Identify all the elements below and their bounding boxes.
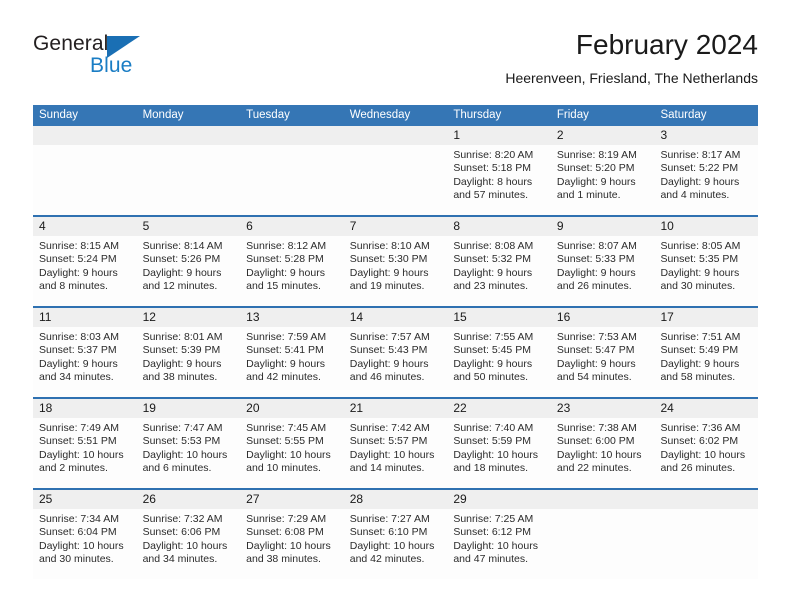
day-cell[interactable]: Sunrise: 8:01 AMSunset: 5:39 PMDaylight:… bbox=[137, 327, 241, 397]
sunrise-text: Sunrise: 8:12 AM bbox=[246, 240, 338, 253]
sunrise-text: Sunrise: 7:36 AM bbox=[660, 422, 752, 435]
sunrise-text: Sunrise: 8:20 AM bbox=[453, 149, 545, 162]
daylight-text-line2: and 19 minutes. bbox=[350, 280, 442, 293]
calendar-week-row: 45678910Sunrise: 8:15 AMSunset: 5:24 PMD… bbox=[33, 215, 758, 306]
sunset-text: Sunset: 5:33 PM bbox=[557, 253, 649, 266]
daylight-text-line2: and 15 minutes. bbox=[246, 280, 338, 293]
day-cell bbox=[33, 145, 137, 215]
daylight-text-line1: Daylight: 10 hours bbox=[453, 449, 545, 462]
sunset-text: Sunset: 6:02 PM bbox=[660, 435, 752, 448]
logo-text-blue: Blue bbox=[90, 54, 132, 78]
daylight-text-line1: Daylight: 9 hours bbox=[453, 267, 545, 280]
day-cell[interactable]: Sunrise: 8:08 AMSunset: 5:32 PMDaylight:… bbox=[447, 236, 551, 306]
sunset-text: Sunset: 5:53 PM bbox=[143, 435, 235, 448]
sunrise-text: Sunrise: 8:19 AM bbox=[557, 149, 649, 162]
daylight-text-line1: Daylight: 9 hours bbox=[350, 358, 442, 371]
sunset-text: Sunset: 5:26 PM bbox=[143, 253, 235, 266]
sunrise-text: Sunrise: 8:17 AM bbox=[660, 149, 752, 162]
day-cell bbox=[137, 145, 241, 215]
sunrise-text: Sunrise: 7:59 AM bbox=[246, 331, 338, 344]
day-cell[interactable]: Sunrise: 7:29 AMSunset: 6:08 PMDaylight:… bbox=[240, 509, 344, 579]
daylight-text-line2: and 26 minutes. bbox=[660, 462, 752, 475]
daylight-text-line2: and 57 minutes. bbox=[453, 189, 545, 202]
sunset-text: Sunset: 6:00 PM bbox=[557, 435, 649, 448]
day-cell[interactable]: Sunrise: 8:12 AMSunset: 5:28 PMDaylight:… bbox=[240, 236, 344, 306]
calendar-weeks: 123Sunrise: 8:20 AMSunset: 5:18 PMDaylig… bbox=[33, 126, 758, 579]
calendar-week-row: 11121314151617Sunrise: 8:03 AMSunset: 5:… bbox=[33, 306, 758, 397]
day-cell[interactable]: Sunrise: 7:53 AMSunset: 5:47 PMDaylight:… bbox=[551, 327, 655, 397]
daylight-text-line2: and 4 minutes. bbox=[660, 189, 752, 202]
calendar-week-row: 2526272829Sunrise: 7:34 AMSunset: 6:04 P… bbox=[33, 488, 758, 579]
daylight-text-line1: Daylight: 9 hours bbox=[660, 358, 752, 371]
daylight-text-line1: Daylight: 8 hours bbox=[453, 176, 545, 189]
daylight-text-line2: and 47 minutes. bbox=[453, 553, 545, 566]
calendar-page: General Blue February 2024 Heerenveen, F… bbox=[0, 0, 792, 612]
daylight-text-line2: and 34 minutes. bbox=[143, 553, 235, 566]
daylight-text-line2: and 26 minutes. bbox=[557, 280, 649, 293]
daylight-text-line2: and 6 minutes. bbox=[143, 462, 235, 475]
day-number[interactable]: 15 bbox=[447, 308, 551, 327]
week-daynumber-row: 123 bbox=[33, 126, 758, 145]
daylight-text-line2: and 14 minutes. bbox=[350, 462, 442, 475]
day-cell bbox=[654, 509, 758, 579]
day-number[interactable]: 3 bbox=[654, 126, 758, 145]
day-cell bbox=[344, 145, 448, 215]
title-block: February 2024 Heerenveen, Friesland, The… bbox=[505, 28, 758, 88]
day-number[interactable]: 8 bbox=[447, 217, 551, 236]
daylight-text-line2: and 42 minutes. bbox=[246, 371, 338, 384]
daylight-text-line2: and 58 minutes. bbox=[660, 371, 752, 384]
day-cell[interactable]: Sunrise: 7:36 AMSunset: 6:02 PMDaylight:… bbox=[654, 418, 758, 488]
day-number[interactable]: 22 bbox=[447, 399, 551, 418]
sunset-text: Sunset: 5:39 PM bbox=[143, 344, 235, 357]
sunrise-text: Sunrise: 8:08 AM bbox=[453, 240, 545, 253]
day-number[interactable]: 14 bbox=[344, 308, 448, 327]
daylight-text-line1: Daylight: 9 hours bbox=[39, 267, 131, 280]
sunrise-text: Sunrise: 7:38 AM bbox=[557, 422, 649, 435]
general-blue-logo: General Blue bbox=[33, 32, 233, 84]
week-daynumber-row: 45678910 bbox=[33, 217, 758, 236]
sunrise-text: Sunrise: 7:40 AM bbox=[453, 422, 545, 435]
sunset-text: Sunset: 5:57 PM bbox=[350, 435, 442, 448]
daylight-text-line1: Daylight: 9 hours bbox=[557, 358, 649, 371]
sunset-text: Sunset: 5:24 PM bbox=[39, 253, 131, 266]
day-number[interactable]: 26 bbox=[137, 490, 241, 509]
day-number[interactable]: 23 bbox=[551, 399, 655, 418]
location-subtitle: Heerenveen, Friesland, The Netherlands bbox=[505, 68, 758, 88]
daylight-text-line2: and 42 minutes. bbox=[350, 553, 442, 566]
logo-text-general: General bbox=[33, 32, 108, 56]
sunset-text: Sunset: 5:20 PM bbox=[557, 162, 649, 175]
sunset-text: Sunset: 5:28 PM bbox=[246, 253, 338, 266]
day-cell[interactable]: Sunrise: 8:07 AMSunset: 5:33 PMDaylight:… bbox=[551, 236, 655, 306]
daylight-text-line2: and 1 minute. bbox=[557, 189, 649, 202]
calendar-week-row: 18192021222324Sunrise: 7:49 AMSunset: 5:… bbox=[33, 397, 758, 488]
daylight-text-line1: Daylight: 10 hours bbox=[39, 540, 131, 553]
sunset-text: Sunset: 5:55 PM bbox=[246, 435, 338, 448]
daylight-text-line1: Daylight: 10 hours bbox=[143, 540, 235, 553]
daylight-text-line1: Daylight: 10 hours bbox=[350, 449, 442, 462]
daylight-text-line1: Daylight: 9 hours bbox=[246, 267, 338, 280]
day-number bbox=[551, 490, 655, 509]
sunrise-text: Sunrise: 7:29 AM bbox=[246, 513, 338, 526]
sunset-text: Sunset: 6:10 PM bbox=[350, 526, 442, 539]
day-number[interactable]: 17 bbox=[654, 308, 758, 327]
day-number bbox=[137, 126, 241, 145]
day-number[interactable]: 6 bbox=[240, 217, 344, 236]
daylight-text-line2: and 54 minutes. bbox=[557, 371, 649, 384]
daylight-text-line1: Daylight: 9 hours bbox=[143, 267, 235, 280]
daylight-text-line2: and 30 minutes. bbox=[660, 280, 752, 293]
day-number bbox=[654, 490, 758, 509]
weekday-sunday: Sunday bbox=[33, 105, 137, 126]
day-cell[interactable]: Sunrise: 8:05 AMSunset: 5:35 PMDaylight:… bbox=[654, 236, 758, 306]
daylight-text-line2: and 38 minutes. bbox=[143, 371, 235, 384]
sunrise-text: Sunrise: 7:27 AM bbox=[350, 513, 442, 526]
sunset-text: Sunset: 5:43 PM bbox=[350, 344, 442, 357]
sunset-text: Sunset: 6:04 PM bbox=[39, 526, 131, 539]
day-cell[interactable]: Sunrise: 7:45 AMSunset: 5:55 PMDaylight:… bbox=[240, 418, 344, 488]
sunset-text: Sunset: 5:35 PM bbox=[660, 253, 752, 266]
day-number[interactable]: 21 bbox=[344, 399, 448, 418]
day-number[interactable]: 18 bbox=[33, 399, 137, 418]
sunrise-text: Sunrise: 7:47 AM bbox=[143, 422, 235, 435]
sunset-text: Sunset: 5:59 PM bbox=[453, 435, 545, 448]
daylight-text-line2: and 30 minutes. bbox=[39, 553, 131, 566]
sunset-text: Sunset: 5:47 PM bbox=[557, 344, 649, 357]
daylight-text-line1: Daylight: 9 hours bbox=[39, 358, 131, 371]
week-body-row: Sunrise: 8:20 AMSunset: 5:18 PMDaylight:… bbox=[33, 145, 758, 215]
daylight-text-line1: Daylight: 9 hours bbox=[660, 176, 752, 189]
sunset-text: Sunset: 6:08 PM bbox=[246, 526, 338, 539]
daylight-text-line1: Daylight: 10 hours bbox=[557, 449, 649, 462]
sunrise-text: Sunrise: 7:32 AM bbox=[143, 513, 235, 526]
day-number bbox=[240, 126, 344, 145]
daylight-text-line1: Daylight: 10 hours bbox=[660, 449, 752, 462]
day-number[interactable]: 4 bbox=[33, 217, 137, 236]
day-cell[interactable]: Sunrise: 7:40 AMSunset: 5:59 PMDaylight:… bbox=[447, 418, 551, 488]
page-title: February 2024 bbox=[505, 28, 758, 62]
week-body-row: Sunrise: 8:03 AMSunset: 5:37 PMDaylight:… bbox=[33, 327, 758, 397]
sunset-text: Sunset: 5:30 PM bbox=[350, 253, 442, 266]
day-cell[interactable]: Sunrise: 7:34 AMSunset: 6:04 PMDaylight:… bbox=[33, 509, 137, 579]
day-cell[interactable]: Sunrise: 7:51 AMSunset: 5:49 PMDaylight:… bbox=[654, 327, 758, 397]
day-number[interactable]: 13 bbox=[240, 308, 344, 327]
daylight-text-line1: Daylight: 10 hours bbox=[246, 449, 338, 462]
day-cell[interactable]: Sunrise: 8:17 AMSunset: 5:22 PMDaylight:… bbox=[654, 145, 758, 215]
daylight-text-line2: and 46 minutes. bbox=[350, 371, 442, 384]
day-cell[interactable]: Sunrise: 8:03 AMSunset: 5:37 PMDaylight:… bbox=[33, 327, 137, 397]
daylight-text-line1: Daylight: 10 hours bbox=[246, 540, 338, 553]
day-number[interactable]: 25 bbox=[33, 490, 137, 509]
daylight-text-line1: Daylight: 9 hours bbox=[660, 267, 752, 280]
day-number[interactable]: 28 bbox=[344, 490, 448, 509]
weekday-thursday: Thursday bbox=[447, 105, 551, 126]
daylight-text-line1: Daylight: 10 hours bbox=[453, 540, 545, 553]
sunset-text: Sunset: 5:22 PM bbox=[660, 162, 752, 175]
daylight-text-line2: and 10 minutes. bbox=[246, 462, 338, 475]
daylight-text-line1: Daylight: 10 hours bbox=[143, 449, 235, 462]
sunset-text: Sunset: 6:06 PM bbox=[143, 526, 235, 539]
day-number[interactable]: 19 bbox=[137, 399, 241, 418]
day-cell bbox=[551, 509, 655, 579]
day-number[interactable]: 11 bbox=[33, 308, 137, 327]
day-cell[interactable]: Sunrise: 7:42 AMSunset: 5:57 PMDaylight:… bbox=[344, 418, 448, 488]
day-number[interactable]: 10 bbox=[654, 217, 758, 236]
day-cell[interactable]: Sunrise: 8:20 AMSunset: 5:18 PMDaylight:… bbox=[447, 145, 551, 215]
day-cell bbox=[240, 145, 344, 215]
day-number[interactable]: 16 bbox=[551, 308, 655, 327]
daylight-text-line2: and 23 minutes. bbox=[453, 280, 545, 293]
week-body-row: Sunrise: 7:49 AMSunset: 5:51 PMDaylight:… bbox=[33, 418, 758, 488]
weekday-header-row: Sunday Monday Tuesday Wednesday Thursday… bbox=[33, 105, 758, 126]
sunset-text: Sunset: 5:18 PM bbox=[453, 162, 545, 175]
day-number bbox=[344, 126, 448, 145]
sunset-text: Sunset: 5:37 PM bbox=[39, 344, 131, 357]
sunrise-text: Sunrise: 8:03 AM bbox=[39, 331, 131, 344]
daylight-text-line2: and 38 minutes. bbox=[246, 553, 338, 566]
week-body-row: Sunrise: 7:34 AMSunset: 6:04 PMDaylight:… bbox=[33, 509, 758, 579]
daylight-text-line1: Daylight: 9 hours bbox=[557, 176, 649, 189]
calendar-grid: Sunday Monday Tuesday Wednesday Thursday… bbox=[33, 105, 758, 579]
day-cell[interactable]: Sunrise: 7:32 AMSunset: 6:06 PMDaylight:… bbox=[137, 509, 241, 579]
week-daynumber-row: 11121314151617 bbox=[33, 308, 758, 327]
daylight-text-line2: and 50 minutes. bbox=[453, 371, 545, 384]
day-number[interactable]: 2 bbox=[551, 126, 655, 145]
day-cell[interactable]: Sunrise: 7:59 AMSunset: 5:41 PMDaylight:… bbox=[240, 327, 344, 397]
day-cell[interactable]: Sunrise: 8:15 AMSunset: 5:24 PMDaylight:… bbox=[33, 236, 137, 306]
sunrise-text: Sunrise: 8:07 AM bbox=[557, 240, 649, 253]
day-cell[interactable]: Sunrise: 8:14 AMSunset: 5:26 PMDaylight:… bbox=[137, 236, 241, 306]
sunset-text: Sunset: 5:45 PM bbox=[453, 344, 545, 357]
sunrise-text: Sunrise: 7:42 AM bbox=[350, 422, 442, 435]
day-cell[interactable]: Sunrise: 7:57 AMSunset: 5:43 PMDaylight:… bbox=[344, 327, 448, 397]
week-daynumber-row: 18192021222324 bbox=[33, 399, 758, 418]
day-cell[interactable]: Sunrise: 7:25 AMSunset: 6:12 PMDaylight:… bbox=[447, 509, 551, 579]
daylight-text-line1: Daylight: 9 hours bbox=[350, 267, 442, 280]
day-number[interactable]: 9 bbox=[551, 217, 655, 236]
sunrise-text: Sunrise: 7:57 AM bbox=[350, 331, 442, 344]
sunrise-text: Sunrise: 8:05 AM bbox=[660, 240, 752, 253]
week-daynumber-row: 2526272829 bbox=[33, 490, 758, 509]
daylight-text-line1: Daylight: 10 hours bbox=[39, 449, 131, 462]
daylight-text-line2: and 8 minutes. bbox=[39, 280, 131, 293]
sunrise-text: Sunrise: 7:55 AM bbox=[453, 331, 545, 344]
daylight-text-line2: and 18 minutes. bbox=[453, 462, 545, 475]
weekday-friday: Friday bbox=[551, 105, 655, 126]
sunrise-text: Sunrise: 7:51 AM bbox=[660, 331, 752, 344]
sunrise-text: Sunrise: 8:15 AM bbox=[39, 240, 131, 253]
sunset-text: Sunset: 5:51 PM bbox=[39, 435, 131, 448]
daylight-text-line1: Daylight: 9 hours bbox=[453, 358, 545, 371]
day-number[interactable]: 27 bbox=[240, 490, 344, 509]
day-cell[interactable]: Sunrise: 8:10 AMSunset: 5:30 PMDaylight:… bbox=[344, 236, 448, 306]
sunrise-text: Sunrise: 7:45 AM bbox=[246, 422, 338, 435]
day-cell[interactable]: Sunrise: 7:55 AMSunset: 5:45 PMDaylight:… bbox=[447, 327, 551, 397]
sunrise-text: Sunrise: 8:01 AM bbox=[143, 331, 235, 344]
daylight-text-line1: Daylight: 9 hours bbox=[557, 267, 649, 280]
weekday-wednesday: Wednesday bbox=[344, 105, 448, 126]
day-number[interactable]: 12 bbox=[137, 308, 241, 327]
daylight-text-line2: and 34 minutes. bbox=[39, 371, 131, 384]
daylight-text-line1: Daylight: 9 hours bbox=[143, 358, 235, 371]
sunrise-text: Sunrise: 7:53 AM bbox=[557, 331, 649, 344]
daylight-text-line2: and 12 minutes. bbox=[143, 280, 235, 293]
day-cell[interactable]: Sunrise: 7:27 AMSunset: 6:10 PMDaylight:… bbox=[344, 509, 448, 579]
calendar-week-row: 123Sunrise: 8:20 AMSunset: 5:18 PMDaylig… bbox=[33, 126, 758, 215]
sunrise-text: Sunrise: 7:25 AM bbox=[453, 513, 545, 526]
sunrise-text: Sunrise: 7:49 AM bbox=[39, 422, 131, 435]
daylight-text-line2: and 2 minutes. bbox=[39, 462, 131, 475]
day-number[interactable]: 24 bbox=[654, 399, 758, 418]
sunrise-text: Sunrise: 8:10 AM bbox=[350, 240, 442, 253]
day-number[interactable]: 5 bbox=[137, 217, 241, 236]
page-header: General Blue February 2024 Heerenveen, F… bbox=[33, 28, 758, 90]
day-number bbox=[33, 126, 137, 145]
day-cell[interactable]: Sunrise: 7:47 AMSunset: 5:53 PMDaylight:… bbox=[137, 418, 241, 488]
daylight-text-line2: and 22 minutes. bbox=[557, 462, 649, 475]
day-cell[interactable]: Sunrise: 7:38 AMSunset: 6:00 PMDaylight:… bbox=[551, 418, 655, 488]
sunrise-text: Sunrise: 7:34 AM bbox=[39, 513, 131, 526]
day-number[interactable]: 7 bbox=[344, 217, 448, 236]
weekday-saturday: Saturday bbox=[654, 105, 758, 126]
sunset-text: Sunset: 5:49 PM bbox=[660, 344, 752, 357]
sunset-text: Sunset: 5:32 PM bbox=[453, 253, 545, 266]
day-cell[interactable]: Sunrise: 8:19 AMSunset: 5:20 PMDaylight:… bbox=[551, 145, 655, 215]
sunrise-text: Sunrise: 8:14 AM bbox=[143, 240, 235, 253]
week-body-row: Sunrise: 8:15 AMSunset: 5:24 PMDaylight:… bbox=[33, 236, 758, 306]
weekday-monday: Monday bbox=[137, 105, 241, 126]
day-number[interactable]: 1 bbox=[447, 126, 551, 145]
day-number[interactable]: 29 bbox=[447, 490, 551, 509]
weekday-tuesday: Tuesday bbox=[240, 105, 344, 126]
sunset-text: Sunset: 5:41 PM bbox=[246, 344, 338, 357]
sunset-text: Sunset: 6:12 PM bbox=[453, 526, 545, 539]
day-number[interactable]: 20 bbox=[240, 399, 344, 418]
daylight-text-line1: Daylight: 9 hours bbox=[246, 358, 338, 371]
day-cell[interactable]: Sunrise: 7:49 AMSunset: 5:51 PMDaylight:… bbox=[33, 418, 137, 488]
daylight-text-line1: Daylight: 10 hours bbox=[350, 540, 442, 553]
